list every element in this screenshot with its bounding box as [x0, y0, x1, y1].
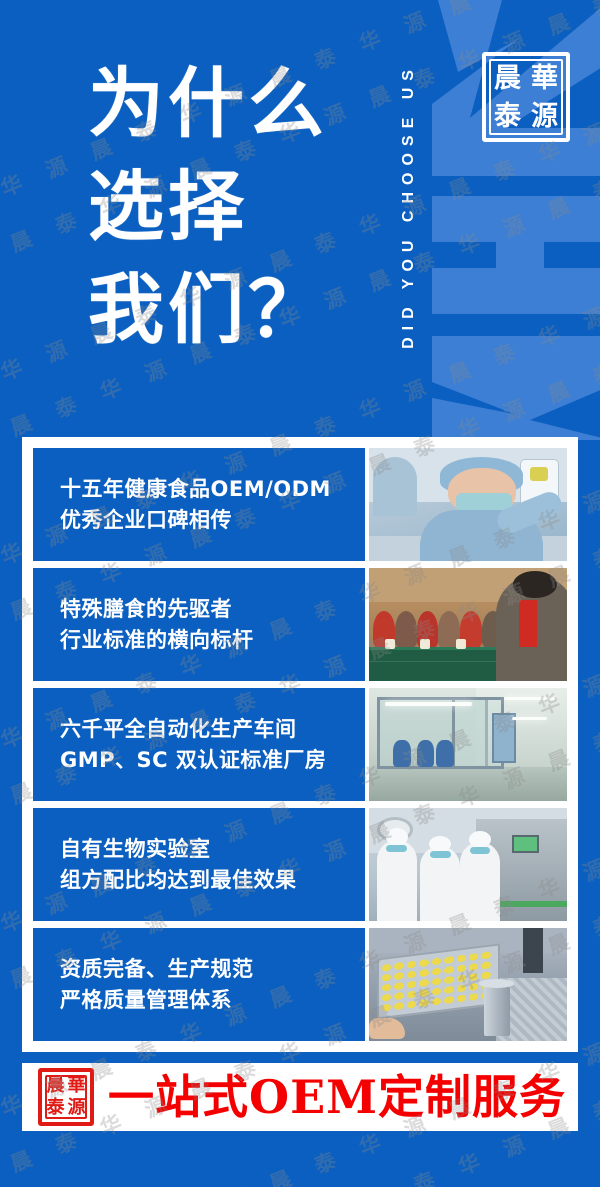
feature-line-1: 十五年健康食品OEM/ODM	[60, 474, 365, 505]
feature-line-1: 特殊膳食的先驱者	[60, 594, 365, 625]
seal-char-2: 華	[526, 59, 563, 97]
feature-photo-packaging-line	[369, 928, 567, 1041]
poster-root: 为什么 选择 我们？ DID YOU CHOOSE US 晨 華 泰 源 十五年…	[0, 0, 600, 1187]
feature-card: 特殊膳食的先驱者 行业标准的横向标杆	[33, 568, 567, 681]
feature-photo-conference	[369, 568, 567, 681]
page-title: 为什么 选择 我们？	[88, 52, 328, 361]
feature-card-text: 资质完备、生产规范 严格质量管理体系	[33, 928, 365, 1041]
seal-char-4: 源	[526, 97, 563, 135]
poster-header: 为什么 选择 我们？ DID YOU CHOOSE US 晨 華 泰 源	[0, 0, 600, 437]
feature-line-2: 行业标准的横向标杆	[60, 625, 365, 656]
feature-line-2: 严格质量管理体系	[60, 985, 365, 1016]
feature-line-2: 组方配比均达到最佳效果	[60, 865, 365, 896]
footer-slogan: 一站式OEM定制服务	[108, 1074, 566, 1120]
feature-card-text: 特殊膳食的先驱者 行业标准的横向标杆	[33, 568, 365, 681]
seal-char-3: 泰	[489, 97, 526, 135]
title-line-2: 选择	[88, 155, 328, 258]
footer-seal-icon: 晨 華 泰 源	[38, 1068, 94, 1126]
seal-char-1: 晨	[489, 59, 526, 97]
feature-card-text: 自有生物实验室 组方配比均达到最佳效果	[33, 808, 365, 921]
footer-seal-char-4: 源	[66, 1097, 87, 1119]
feature-photo-cleanroom	[369, 688, 567, 801]
feature-card-list: 十五年健康食品OEM/ODM 优秀企业口碑相传 特殊膳食的先驱者	[33, 448, 567, 1041]
feature-card: 自有生物实验室 组方配比均达到最佳效果	[33, 808, 567, 921]
footer-seal-char-2: 華	[66, 1075, 87, 1097]
features-frame: 十五年健康食品OEM/ODM 优秀企业口碑相传 特殊膳食的先驱者	[22, 437, 578, 1052]
footer-seal-char-3: 泰	[45, 1097, 66, 1119]
feature-card-text: 六千平全自动化生产车间 GMP、SC 双认证标准厂房	[33, 688, 365, 801]
vertical-tagline-text: DID YOU CHOOSE US	[400, 63, 418, 349]
feature-line-2: GMP、SC 双认证标准厂房	[60, 745, 365, 776]
feature-card: 十五年健康食品OEM/ODM 优秀企业口碑相传	[33, 448, 567, 561]
feature-line-1: 自有生物实验室	[60, 834, 365, 865]
title-line-3: 我们？	[88, 258, 328, 361]
footer-seal-char-1: 晨	[45, 1075, 66, 1097]
feature-line-1: 六千平全自动化生产车间	[60, 714, 365, 745]
vertical-tagline: DID YOU CHOOSE US	[394, 18, 424, 394]
brand-seal-icon: 晨 華 泰 源	[482, 52, 570, 142]
footer-banner: 晨 華 泰 源 一站式OEM定制服务	[22, 1063, 578, 1131]
feature-photo-lab-technician	[369, 448, 567, 561]
feature-photo-laboratory-workers	[369, 808, 567, 921]
feature-card-text: 十五年健康食品OEM/ODM 优秀企业口碑相传	[33, 448, 365, 561]
feature-card: 资质完备、生产规范 严格质量管理体系	[33, 928, 567, 1041]
feature-line-2: 优秀企业口碑相传	[60, 505, 365, 536]
title-line-1: 为什么	[88, 52, 328, 155]
feature-line-1: 资质完备、生产规范	[60, 954, 365, 985]
feature-card: 六千平全自动化生产车间 GMP、SC 双认证标准厂房	[33, 688, 567, 801]
